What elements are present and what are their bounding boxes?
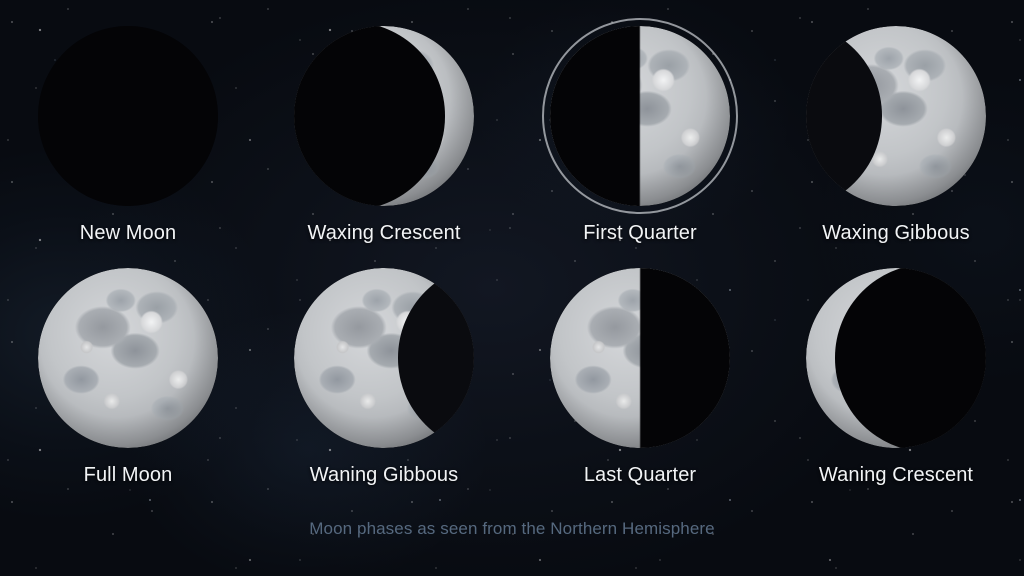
phase-label-last-quarter: Last Quarter xyxy=(584,464,696,487)
moon-graphic-full-moon xyxy=(38,268,218,448)
moon-graphic-last-quarter xyxy=(550,268,730,448)
moon-disc-waning-crescent[interactable] xyxy=(806,268,986,448)
diagram-caption: Moon phases as seen from the Northern He… xyxy=(0,519,1024,539)
terminator-shadow xyxy=(294,268,474,448)
phase-label-full-moon: Full Moon xyxy=(84,464,173,487)
moon-graphic-waning-crescent xyxy=(806,268,986,448)
phase-cell-waning-gibbous[interactable]: Waning Gibbous xyxy=(256,268,512,487)
phase-cell-waxing-gibbous[interactable]: Waxing Gibbous xyxy=(768,26,1024,245)
terminator-shadow xyxy=(550,268,730,448)
moon-disc-waning-gibbous[interactable] xyxy=(294,268,474,448)
phase-label-waxing-crescent: Waxing Crescent xyxy=(307,222,460,245)
moon-phases-diagram: New MoonWaxing CrescentFirst QuarterWaxi… xyxy=(0,0,1024,576)
phase-label-waning-gibbous: Waning Gibbous xyxy=(310,464,459,487)
phase-row-waxing: New MoonWaxing CrescentFirst QuarterWaxi… xyxy=(0,26,1024,245)
phase-label-new-moon: New Moon xyxy=(80,222,176,245)
terminator-shadow xyxy=(806,26,986,206)
moon-graphic-new-moon xyxy=(38,26,218,206)
phase-cell-full-moon[interactable]: Full Moon xyxy=(0,268,256,487)
phase-label-waning-crescent: Waning Crescent xyxy=(819,464,973,487)
phase-row-waning: Full MoonWaning GibbousLast QuarterWanin… xyxy=(0,268,1024,487)
moon-disc-new-moon[interactable] xyxy=(38,26,218,206)
limb-darkening xyxy=(38,268,218,448)
terminator-shadow xyxy=(550,26,730,206)
phase-cell-waning-crescent[interactable]: Waning Crescent xyxy=(768,268,1024,487)
terminator-shadow xyxy=(806,268,986,448)
moon-disc-last-quarter[interactable] xyxy=(550,268,730,448)
phase-cell-first-quarter[interactable]: First Quarter xyxy=(512,26,768,245)
moon-graphic-waxing-crescent xyxy=(294,26,474,206)
phase-cell-last-quarter[interactable]: Last Quarter xyxy=(512,268,768,487)
terminator-shadow xyxy=(294,26,474,206)
phase-cell-new-moon[interactable]: New Moon xyxy=(0,26,256,245)
moon-disc-waxing-gibbous[interactable] xyxy=(806,26,986,206)
phase-cell-waxing-crescent[interactable]: Waxing Crescent xyxy=(256,26,512,245)
moon-disc-waxing-crescent[interactable] xyxy=(294,26,474,206)
phase-label-waxing-gibbous: Waxing Gibbous xyxy=(822,222,969,245)
moon-disc-full-moon[interactable] xyxy=(38,268,218,448)
phase-label-first-quarter: First Quarter xyxy=(583,222,697,245)
terminator-shadow xyxy=(38,26,218,206)
moon-graphic-first-quarter xyxy=(550,26,730,206)
moon-disc-first-quarter[interactable] xyxy=(550,26,730,206)
moon-graphic-waxing-gibbous xyxy=(806,26,986,206)
moon-graphic-waning-gibbous xyxy=(294,268,474,448)
